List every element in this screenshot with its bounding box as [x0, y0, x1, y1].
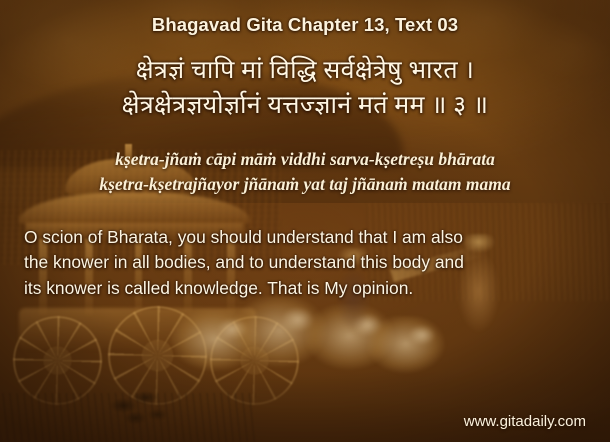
translation-line-2: the knower in all bodies, and to underst… [24, 250, 586, 275]
page-title: Bhagavad Gita Chapter 13, Text 03 [0, 14, 610, 36]
transliteration-line-2: kṣetra-kṣetrajñayor jñānaṁ yat taj jñāna… [0, 172, 610, 197]
sanskrit-verse: क्षेत्रज्ञं चापि मां विद्धि सर्वक्षेत्रे… [0, 54, 610, 123]
gita-verse-slide: Bhagavad Gita Chapter 13, Text 03 क्षेत्… [0, 0, 610, 442]
verse-content: Bhagavad Gita Chapter 13, Text 03 क्षेत्… [0, 0, 610, 442]
website-credit: www.gitadaily.com [464, 413, 586, 430]
sanskrit-line-1: क्षेत्रज्ञं चापि मां विद्धि सर्वक्षेत्रे… [0, 54, 610, 89]
translation-block: O scion of Bharata, you should understan… [24, 225, 586, 301]
translation-line-1: O scion of Bharata, you should understan… [24, 225, 586, 250]
translation-line-3: its knower is called knowledge. That is … [24, 276, 586, 301]
sanskrit-line-2: क्षेत्रक्षेत्रज्ञयोर्ज्ञानं यत्तज्ज्ञानं… [0, 89, 610, 124]
transliteration-line-1: kṣetra-jñaṁ cāpi māṁ viddhi sarva-kṣetre… [0, 147, 610, 172]
transliteration-block: kṣetra-jñaṁ cāpi māṁ viddhi sarva-kṣetre… [0, 147, 610, 197]
